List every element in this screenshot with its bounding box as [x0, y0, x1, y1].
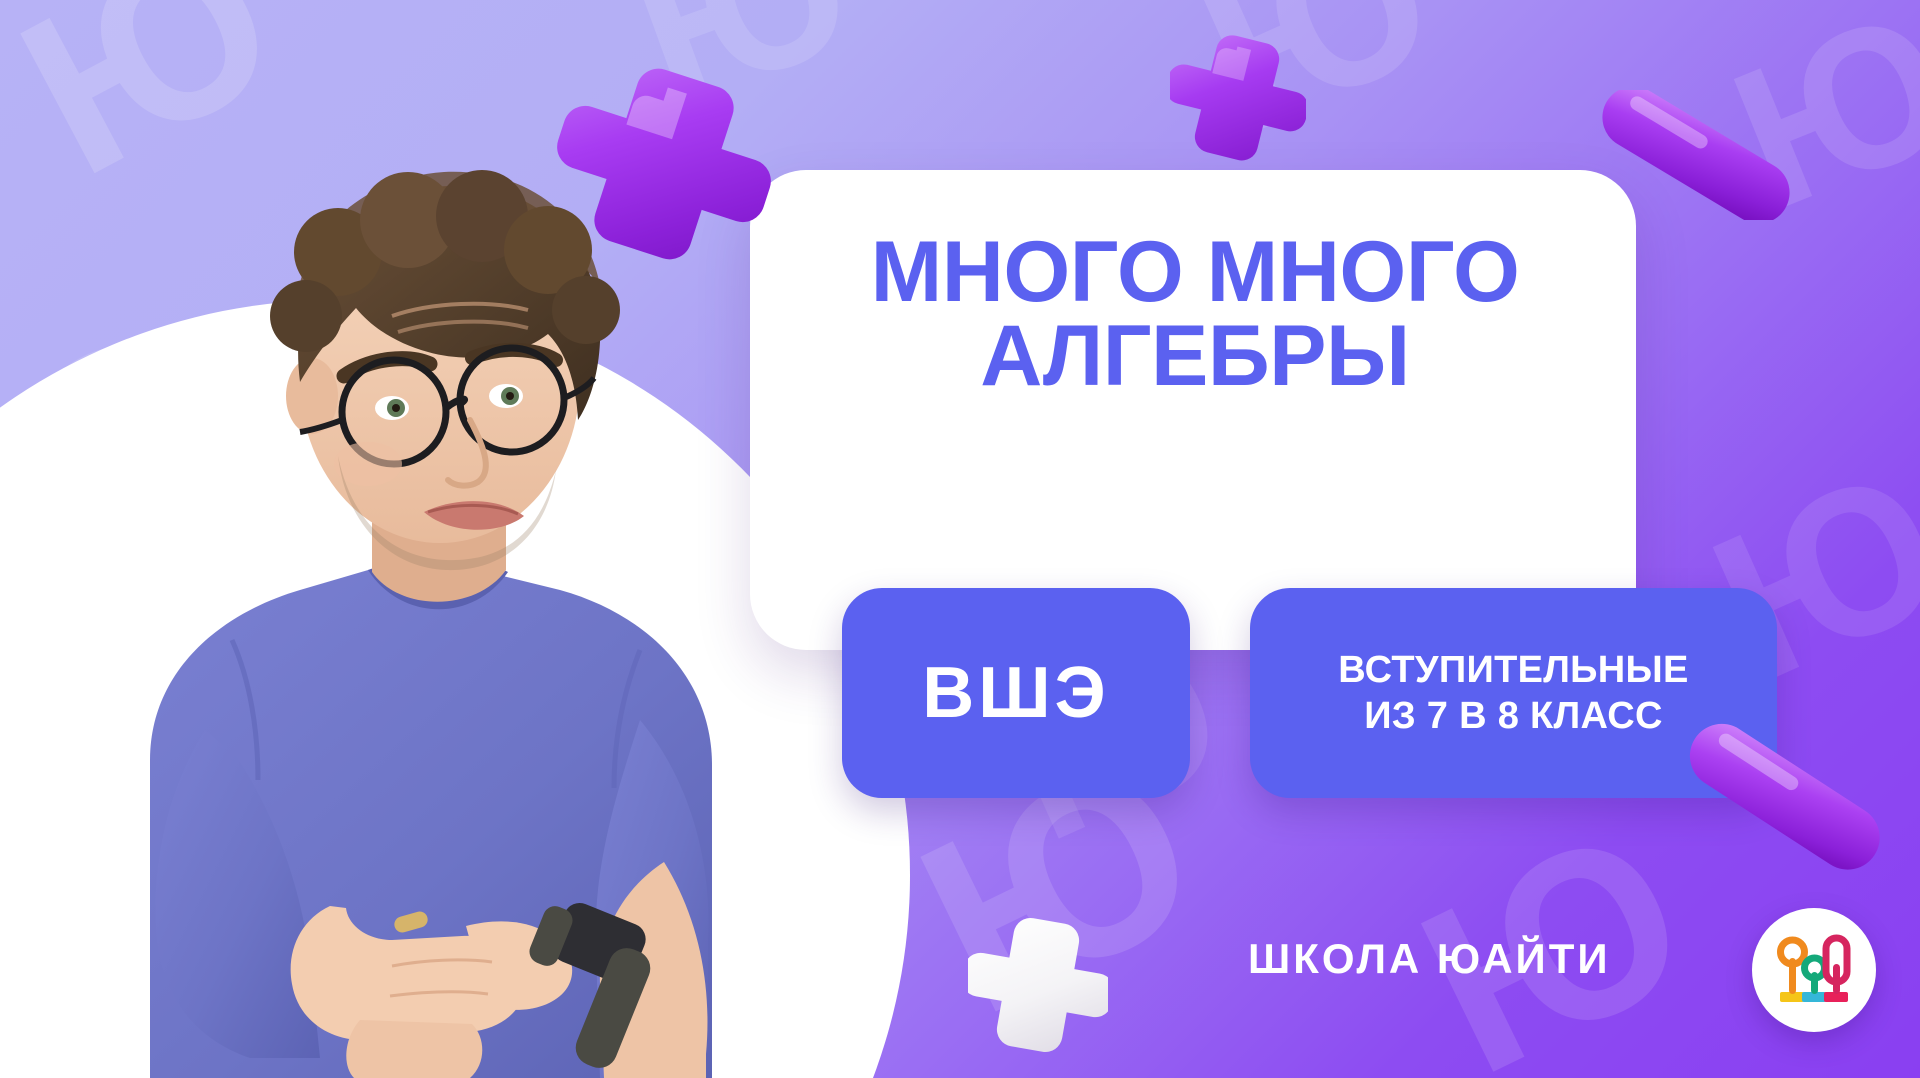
brand-logo[interactable]	[1752, 908, 1876, 1032]
badge-exam-line-2: ИЗ 7 В 8 КЛАСС	[1364, 695, 1663, 737]
watermark-letter: Ю	[612, 0, 874, 139]
badge-vshe[interactable]: ВШЭ	[842, 588, 1190, 798]
watermark-letter: Ю	[1710, 0, 1920, 241]
brand-name: ШКОЛА ЮАЙТИ	[1248, 935, 1611, 983]
headline-line-2: АЛГЕБРЫ	[770, 314, 1620, 398]
badge-exam-line-1: ВСТУПИТЕЛЬНЫЕ	[1338, 649, 1688, 691]
watermark-letter: Ю	[1177, 0, 1460, 165]
white-cross-icon	[968, 910, 1108, 1060]
badge-vshe-label: ВШЭ	[922, 652, 1110, 734]
page-title: МНОГО МНОГО АЛГЕБРЫ	[770, 230, 1620, 399]
badge-exam-text: ВСТУПИТЕЛЬНЫЕ ИЗ 7 В 8 КЛАСС	[1338, 647, 1688, 740]
badge-exam-info[interactable]: ВСТУПИТЕЛЬНЫЕ ИЗ 7 В 8 КЛАСС	[1250, 588, 1777, 798]
youity-logo-icon	[1774, 930, 1854, 1010]
headline-line-1: МНОГО МНОГО	[871, 224, 1520, 320]
watermark-letter: Ю	[1390, 788, 1718, 1078]
purple-cross-small-icon	[1170, 26, 1306, 162]
banner-canvas: Ю Ю Ю Ю Ю Ю Ю Ю Ю	[0, 0, 1920, 1078]
